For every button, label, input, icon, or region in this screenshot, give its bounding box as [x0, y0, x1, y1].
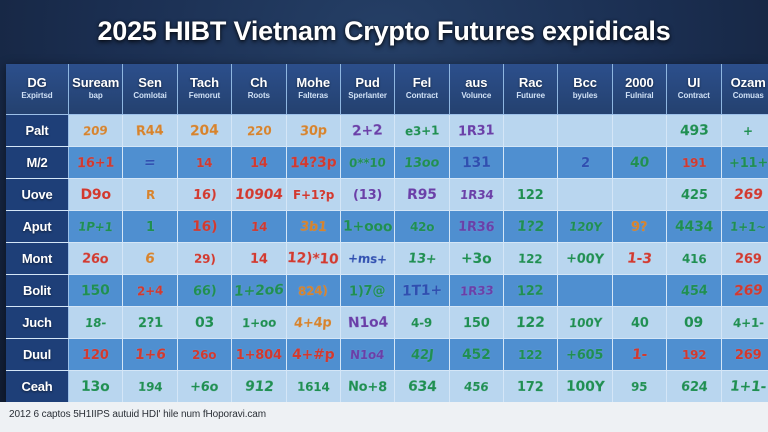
column-header-main: DG: [6, 76, 68, 90]
table-cell: 10904: [232, 179, 286, 211]
table-cell: 1+1-: [721, 371, 768, 403]
cell-value: 2+4: [137, 284, 163, 299]
cell-value: 1R33: [459, 283, 493, 298]
table-cell: 634: [395, 371, 449, 403]
column-header-sub: bap: [69, 90, 122, 102]
cell-value: 14: [250, 220, 267, 234]
table-cell: 100Y: [558, 307, 612, 339]
table-cell: 1+6: [123, 339, 177, 371]
table-cell: =: [123, 147, 177, 179]
column-header-9[interactable]: RacFuturee: [504, 64, 558, 115]
cell-value: 42J: [410, 348, 434, 363]
table-cell: (13): [340, 179, 394, 211]
column-header-main: Bcc: [558, 76, 611, 90]
cell-value: 1614: [297, 380, 330, 395]
cell-value: N1o4: [350, 348, 385, 362]
table-cell: 16): [177, 211, 231, 243]
cell-value: 10904: [234, 187, 283, 203]
infographic-page: 2025 HIBT Vietnam Crypto Futures expidic…: [0, 0, 768, 432]
table-cell: 16+1: [69, 147, 123, 179]
cell-value: 824): [298, 283, 328, 298]
cell-value: 30p: [299, 123, 327, 139]
table-cell: 824): [286, 275, 340, 307]
cell-value: 416: [682, 252, 706, 267]
table-cell: 1T1+: [395, 275, 449, 307]
cell-value: 122: [518, 252, 543, 267]
row-label[interactable]: Aput: [6, 211, 69, 243]
cell-value: 493: [679, 122, 708, 139]
cell-value: 150: [463, 315, 490, 330]
table-cell: 269: [721, 275, 768, 307]
table-cell: R: [123, 179, 177, 211]
table-cell: 29): [177, 243, 231, 275]
column-header-13[interactable]: OzamComuas: [721, 64, 768, 115]
column-header-main: Ch: [232, 76, 285, 90]
row-label[interactable]: Uove: [6, 179, 69, 211]
table-cell: 42o: [395, 211, 449, 243]
column-header-0[interactable]: DGExpirtsd: [6, 64, 69, 115]
table-cell: 95: [612, 371, 666, 403]
table-header-row: DGExpirtsdSureambapSenComlotaiTachFemoru…: [6, 64, 768, 115]
cell-value: 269: [735, 348, 762, 363]
table-cell: [504, 115, 558, 147]
cell-value: 66): [192, 283, 216, 299]
title-bar: 2025 HIBT Vietnam Crypto Futures expidic…: [0, 0, 768, 62]
cell-value: 9?: [631, 219, 647, 234]
column-header-3[interactable]: TachFemorut: [177, 64, 231, 115]
column-header-sub: Volunce: [450, 90, 503, 102]
table-cell: 1R36: [449, 211, 503, 243]
column-header-sub: Contract: [667, 90, 720, 102]
table-cell: 100Y: [558, 371, 612, 403]
table-cell: 03: [177, 307, 231, 339]
cell-value: =: [144, 154, 157, 170]
cell-value: R95: [407, 187, 438, 203]
cell-value: 26o: [192, 348, 217, 362]
table-cell: 13oo: [395, 147, 449, 179]
table-row: Aput1P+1116)143b11+ooo42o1R361?2120Y9?44…: [6, 211, 768, 243]
cell-value: 09: [684, 314, 703, 330]
footer-bar: 2012 6 captos 5H1IIPS autuid HDI' hile n…: [0, 402, 768, 432]
row-label[interactable]: Duul: [6, 339, 69, 371]
data-table: DGExpirtsdSureambapSenComlotaiTachFemoru…: [6, 64, 768, 403]
cell-value: 0**10: [349, 156, 386, 171]
table-cell: 26o: [69, 243, 123, 275]
column-header-main: aus: [450, 76, 503, 90]
table-cell: 2: [558, 147, 612, 179]
table-cell: 1-3: [612, 243, 666, 275]
column-header-sub: Contract: [395, 90, 448, 102]
cell-value: +00Y: [566, 251, 605, 267]
cell-value: 4-9: [411, 316, 432, 330]
cell-value: 40: [629, 154, 649, 170]
cell-value: 194: [137, 380, 162, 394]
cell-value: e3+1: [405, 123, 440, 138]
cell-value: 4+#p: [292, 347, 335, 363]
table-cell: 4-9: [395, 307, 449, 339]
cell-value: 18-: [85, 316, 107, 330]
column-header-main: Fel: [395, 76, 448, 90]
table-cell: 42J: [395, 339, 449, 371]
table-cell: +3o: [449, 243, 503, 275]
cell-value: 1-3: [626, 250, 653, 267]
cell-value: 3b1: [299, 219, 327, 234]
cell-value: 191: [681, 156, 706, 170]
table-cell: 172: [504, 371, 558, 403]
column-header-sub: Comuas: [722, 90, 768, 102]
table-cell: F+1?p: [286, 179, 340, 211]
table-body: Palt209R4420422030p2+2e3+11R31493+M/216+…: [6, 115, 768, 403]
table-cell: 220: [232, 115, 286, 147]
cell-value: 172: [517, 379, 544, 394]
table-cell: 13+: [395, 243, 449, 275]
table-cell: 122: [504, 243, 558, 275]
table-row: Mont26o629)1412)*10+ms+13++3o122+00Y1-34…: [6, 243, 768, 275]
footer-caption: 2012 6 captos 5H1IIPS autuid HDI' hile n…: [9, 409, 266, 420]
table-cell: R95: [395, 179, 449, 211]
table-cell: 2?1: [123, 307, 177, 339]
table-cell: 1: [123, 211, 177, 243]
column-header-10[interactable]: Bccbyules: [558, 64, 612, 115]
table-cell: 269: [721, 243, 768, 275]
table-cell: 1+1~: [721, 211, 768, 243]
column-header-sub: Fulniral: [613, 90, 666, 102]
table-cell: 120: [69, 339, 123, 371]
cell-value: R: [145, 188, 155, 202]
row-label[interactable]: Juch: [6, 307, 69, 339]
cell-value: 131: [462, 154, 491, 170]
table-cell: 1P+1: [69, 211, 123, 243]
table-cell: 1R34: [449, 179, 503, 211]
cell-value: 1?2: [516, 218, 544, 234]
table-cell: [612, 115, 666, 147]
table-cell: 194: [123, 371, 177, 403]
cell-value: 1)7@: [349, 283, 385, 299]
cell-value: 2: [580, 155, 589, 170]
cell-value: 456: [463, 380, 489, 394]
table-cell: +11+: [721, 147, 768, 179]
table-row: M/216+1=141414?3p0**1013oo131240191+11+: [6, 147, 768, 179]
table-cell: 26o: [177, 339, 231, 371]
column-header-main: Ozam: [722, 76, 768, 90]
table-cell: +ms+: [340, 243, 394, 275]
page-title: 2025 HIBT Vietnam Crypto Futures expidic…: [97, 16, 670, 47]
table-header: DGExpirtsdSureambapSenComlotaiTachFemoru…: [6, 64, 768, 115]
cell-value: 12)*10: [287, 250, 340, 268]
table-cell: 1R33: [449, 275, 503, 307]
table-cell: 18-: [69, 307, 123, 339]
cell-value: 1-: [631, 347, 648, 363]
cell-value: 1P+1: [77, 220, 113, 235]
cell-value: 1+1-: [729, 378, 767, 395]
cell-value: 209: [83, 124, 109, 139]
table-cell: 122: [504, 307, 558, 339]
cell-value: 122: [518, 348, 543, 362]
cell-value: 1+ooo: [343, 218, 393, 235]
cell-value: N1o4: [347, 314, 388, 331]
column-header-sub: Futuree: [504, 90, 557, 102]
cell-value: F+1?p: [292, 188, 333, 202]
table-cell: 416: [667, 243, 721, 275]
cell-value: 1: [146, 219, 155, 234]
column-header-main: Pud: [341, 76, 394, 90]
cell-value: 14: [250, 251, 268, 267]
table-cell: 122: [504, 179, 558, 211]
table-cell: 1+ooo: [340, 211, 394, 243]
cell-value: 912: [244, 378, 275, 394]
table-cell: 204: [177, 115, 231, 147]
row-label[interactable]: Palt: [6, 115, 69, 147]
table-cell: 6: [123, 243, 177, 275]
table-cell: 9?: [612, 211, 666, 243]
cell-value: 14?3p: [290, 154, 337, 171]
table-cell: N1o4: [340, 307, 394, 339]
column-header-8[interactable]: ausVolunce: [449, 64, 503, 115]
cell-value: 100Y: [566, 378, 605, 395]
cell-value: 6: [144, 250, 155, 266]
table-cell: 4+4p: [286, 307, 340, 339]
cell-value: 16+1: [77, 155, 115, 171]
row-label[interactable]: M/2: [6, 147, 69, 179]
table-cell: 192: [667, 339, 721, 371]
table-cell: 16): [177, 179, 231, 211]
cell-value: 1R31: [458, 123, 494, 139]
column-header-main: Mohe: [287, 76, 340, 90]
table-cell: 2+4: [123, 275, 177, 307]
data-table-container: DGExpirtsdSureambapSenComlotaiTachFemoru…: [6, 64, 762, 402]
column-header-4[interactable]: ChRoots: [232, 64, 286, 115]
cell-value: 29): [194, 252, 216, 267]
cell-value: +3o: [461, 250, 492, 267]
table-cell: 1R31: [449, 115, 503, 147]
cell-value: 120: [82, 348, 109, 363]
column-header-6[interactable]: PudSperlanter: [340, 64, 394, 115]
cell-value: 425: [680, 188, 708, 203]
table-cell: 425: [667, 179, 721, 211]
table-cell: 1614: [286, 371, 340, 403]
cell-value: 269: [735, 251, 762, 267]
table-cell: 1?2: [504, 211, 558, 243]
cell-value: 634: [407, 378, 437, 394]
table-cell: [558, 115, 612, 147]
cell-value: No+8: [348, 379, 387, 395]
table-cell: 40: [612, 307, 666, 339]
cell-value: 269: [733, 282, 763, 299]
table-cell: [558, 179, 612, 211]
cell-value: 40: [630, 315, 648, 330]
column-header-7[interactable]: FelContract: [395, 64, 449, 115]
table-cell: 1+oo: [232, 307, 286, 339]
table-cell: 452: [449, 339, 503, 371]
row-label[interactable]: Bolit: [6, 275, 69, 307]
table-cell: e3+1: [395, 115, 449, 147]
table-cell: 1-: [612, 339, 666, 371]
table-cell: [612, 275, 666, 307]
cell-value: 4+4p: [294, 315, 333, 331]
table-cell: 09: [667, 307, 721, 339]
column-header-sub: Expirtsd: [6, 90, 68, 102]
table-cell: 493: [667, 115, 721, 147]
table-cell: 2+2: [340, 115, 394, 147]
table-cell: N1o4: [340, 339, 394, 371]
cell-value: 1T1+: [402, 282, 442, 299]
cell-value: 122: [517, 188, 544, 203]
cell-value: +ms+: [347, 251, 387, 266]
cell-value: +605: [566, 348, 604, 363]
table-cell: 454: [667, 275, 721, 307]
cell-value: 122: [517, 283, 545, 299]
cell-value: 624: [680, 379, 708, 394]
table-cell: D9o: [69, 179, 123, 211]
table-cell: 120Y: [558, 211, 612, 243]
cell-value: 95: [631, 380, 648, 394]
cell-value: 150: [81, 282, 110, 299]
cell-value: 4434: [674, 218, 713, 235]
cell-value: 4+1-: [732, 316, 763, 331]
table-row: UoveD9oR16)10904F+1?p(13)R951R3412242526…: [6, 179, 768, 211]
column-header-main: Suream: [69, 76, 122, 90]
cell-value: 1+804: [236, 348, 282, 363]
table-cell: 269: [721, 339, 768, 371]
table-cell: 191: [667, 147, 721, 179]
table-cell: 624: [667, 371, 721, 403]
cell-value: 16): [192, 218, 218, 234]
table-cell: R44: [123, 115, 177, 147]
column-header-main: Rac: [504, 76, 557, 90]
column-header-main: Sen: [123, 76, 176, 90]
table-cell: 0**10: [340, 147, 394, 179]
cell-value: 1+2o6: [233, 282, 284, 300]
column-header-main: 2000: [613, 76, 666, 90]
table-cell: 456: [449, 371, 503, 403]
table-row: Palt209R4420422030p2+2e3+11R31493+: [6, 115, 768, 147]
table-cell: +6o: [177, 371, 231, 403]
table-cell: 209: [69, 115, 123, 147]
column-header-sub: Sperlanter: [341, 90, 394, 102]
cell-value: 452: [462, 347, 491, 363]
column-header-5[interactable]: MoheFalteras: [286, 64, 340, 115]
column-header-sub: Comlotai: [123, 90, 176, 102]
cell-value: +: [743, 124, 753, 138]
column-header-sub: Falteras: [287, 90, 340, 102]
cell-value: 13+: [407, 251, 437, 267]
table-row: Ceah13o194+6o9121614No+8634456172100Y956…: [6, 371, 768, 403]
table-cell: 3b1: [286, 211, 340, 243]
cell-value: 220: [246, 124, 271, 139]
table-cell: 14: [177, 147, 231, 179]
table-cell: 1+2o6: [232, 275, 286, 307]
cell-value: 1R34: [459, 188, 494, 202]
cell-value: 42o: [410, 220, 435, 234]
cell-value: 2+2: [352, 122, 384, 139]
table-cell: 1)7@: [340, 275, 394, 307]
cell-value: 1+oo: [242, 316, 277, 331]
table-cell: 30p: [286, 115, 340, 147]
cell-value: 13o: [81, 378, 110, 394]
cell-value: 03: [195, 314, 214, 330]
cell-value: 204: [190, 122, 219, 139]
column-header-1[interactable]: Sureambap: [69, 64, 123, 115]
cell-value: 192: [681, 348, 706, 362]
table-cell: [504, 147, 558, 179]
cell-value: (13): [353, 188, 382, 203]
table-cell: 40: [612, 147, 666, 179]
table-cell: 150: [449, 307, 503, 339]
column-header-2[interactable]: SenComlotai: [123, 64, 177, 115]
cell-value: 122: [516, 314, 545, 330]
column-header-12[interactable]: UIContract: [667, 64, 721, 115]
cell-value: 1+1~: [730, 220, 767, 235]
cell-value: +6o: [190, 379, 220, 394]
column-header-sub: byules: [558, 90, 611, 102]
table-row: Juch18-2?1031+oo4+4pN1o44-9150122100Y400…: [6, 307, 768, 339]
cell-value: 26o: [82, 251, 110, 267]
row-label[interactable]: Ceah: [6, 371, 69, 403]
table-cell: +605: [558, 339, 612, 371]
column-header-sub: Roots: [232, 90, 285, 102]
table-cell: 150: [69, 275, 123, 307]
table-cell: 14: [232, 211, 286, 243]
cell-value: 100Y: [568, 316, 602, 331]
cell-value: 16): [192, 188, 216, 203]
table-cell: 269: [721, 179, 768, 211]
table-cell: 1+804: [232, 339, 286, 371]
cell-value: 454: [680, 283, 707, 299]
table-cell: 122: [504, 339, 558, 371]
cell-value: 269: [733, 187, 763, 203]
cell-value: D9o: [80, 187, 110, 203]
row-label[interactable]: Mont: [6, 243, 69, 275]
cell-value: 14: [196, 156, 213, 170]
column-header-main: Tach: [178, 76, 231, 90]
column-header-11[interactable]: 2000Fulniral: [612, 64, 666, 115]
table-cell: [558, 275, 612, 307]
table-cell: 912: [232, 371, 286, 403]
cell-value: 14: [250, 155, 268, 170]
table-cell: 131: [449, 147, 503, 179]
table-cell: +00Y: [558, 243, 612, 275]
cell-value: 13oo: [404, 155, 441, 171]
table-cell: 4+#p: [286, 339, 340, 371]
table-cell: 66): [177, 275, 231, 307]
table-cell: 12)*10: [286, 243, 340, 275]
column-header-sub: Femorut: [178, 90, 231, 102]
cell-value: 120Y: [568, 220, 603, 235]
table-cell: 122: [504, 275, 558, 307]
table-cell: +: [721, 115, 768, 147]
cell-value: +11+: [729, 155, 768, 171]
table-cell: 14?3p: [286, 147, 340, 179]
cell-value: R44: [136, 123, 164, 139]
table-row: Bolit1502+466)1+2o6824)1)7@1T1+1R3312245…: [6, 275, 768, 307]
table-cell: 4434: [667, 211, 721, 243]
table-cell: 13o: [69, 371, 123, 403]
table-row: Duul1201+626o1+8044+#pN1o442J452122+6051…: [6, 339, 768, 371]
cell-value: 1R36: [458, 219, 495, 235]
table-cell: No+8: [340, 371, 394, 403]
table-cell: 14: [232, 243, 286, 275]
table-cell: 14: [232, 147, 286, 179]
cell-value: 1+6: [134, 347, 166, 363]
table-cell: [612, 179, 666, 211]
cell-value: 2?1: [137, 315, 163, 330]
column-header-main: UI: [667, 76, 720, 90]
table-cell: 4+1-: [721, 307, 768, 339]
